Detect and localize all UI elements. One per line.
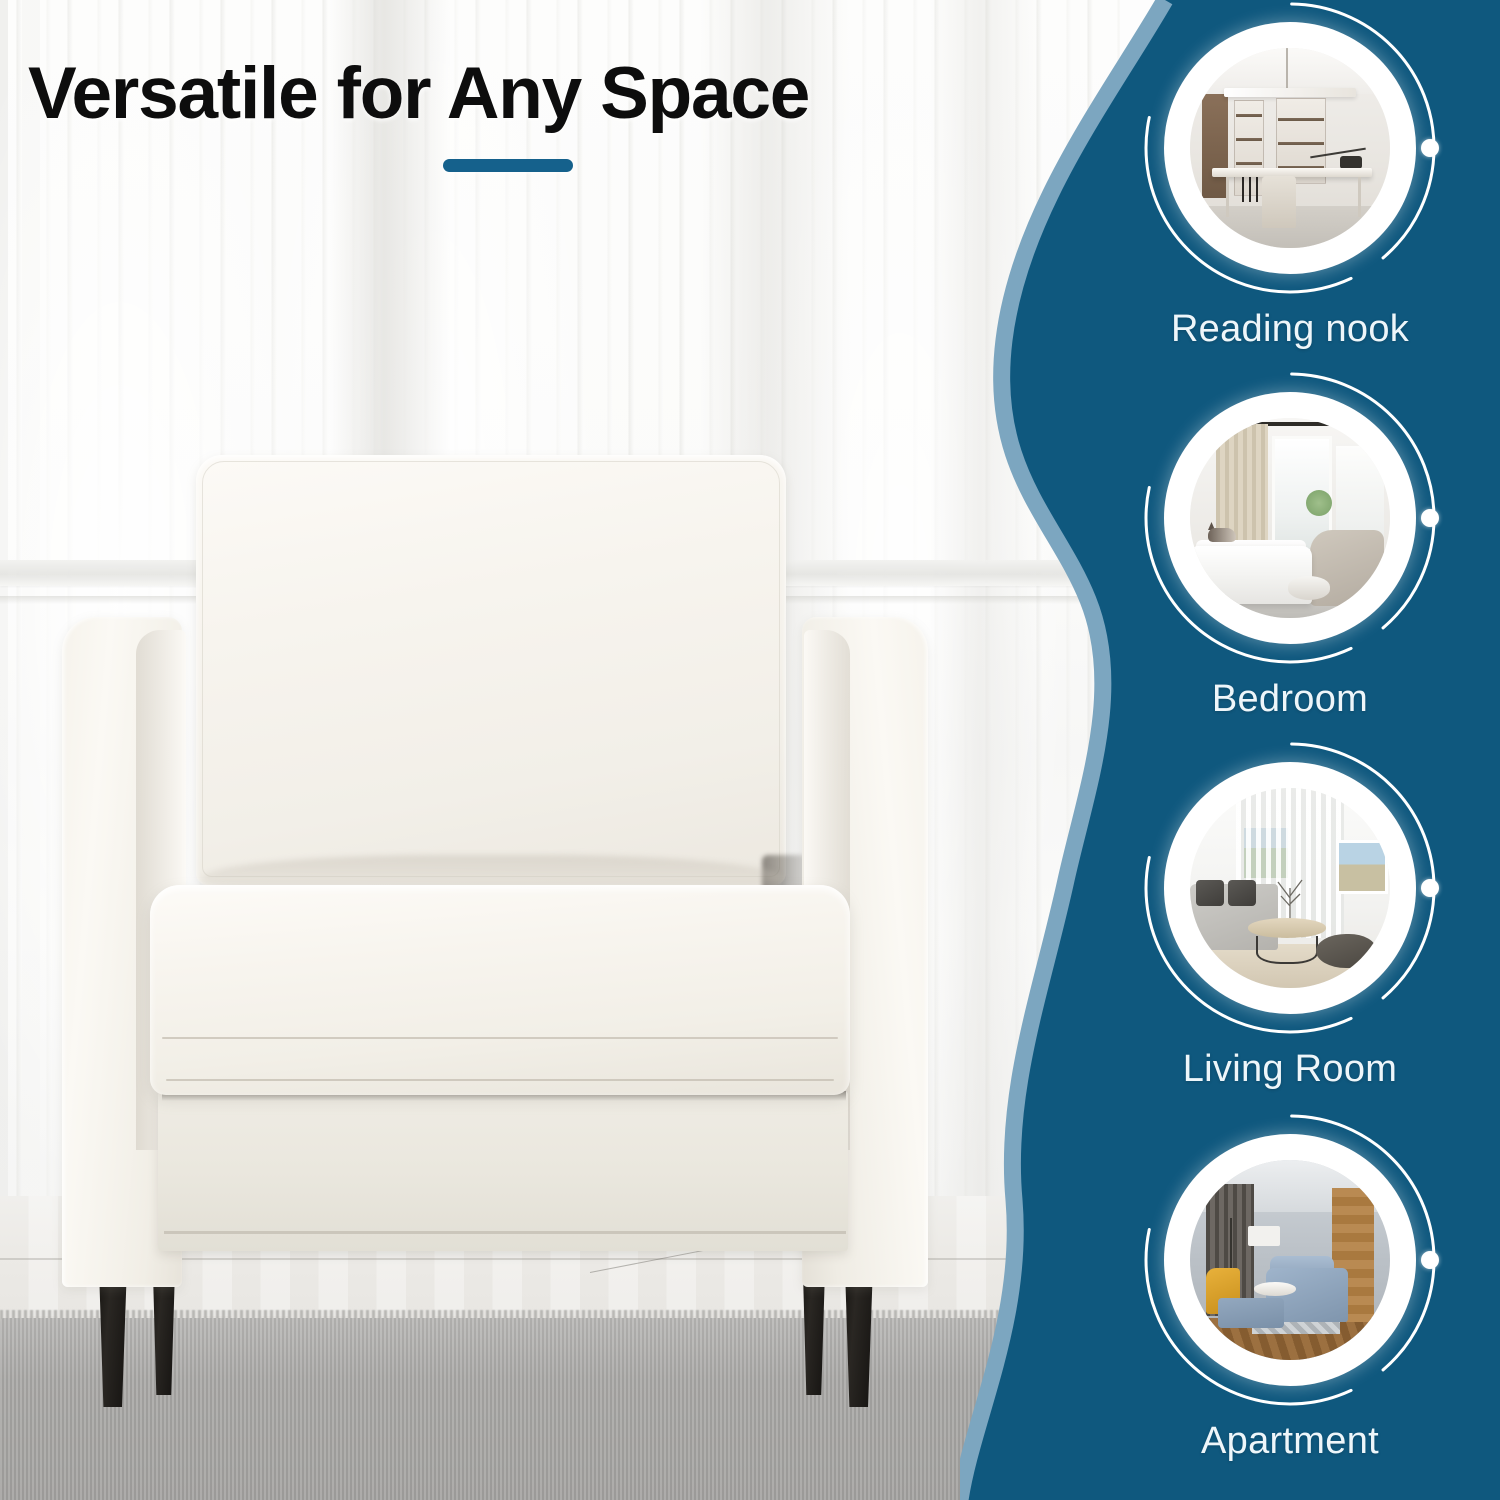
page-title: Versatile for Any Space	[28, 57, 809, 130]
use-case-card[interactable]: Bedroom	[1110, 368, 1470, 721]
title-underline-rule	[443, 159, 573, 172]
circle-holder	[1140, 1110, 1440, 1410]
use-case-photo	[1190, 48, 1390, 248]
reading-nook-photo	[1190, 48, 1390, 248]
marker-dot-icon	[1421, 1251, 1439, 1269]
use-case-label: Living Room	[1110, 1048, 1470, 1091]
armchair	[62, 455, 942, 1265]
photo-ring	[1164, 1134, 1416, 1386]
marker-dot-icon	[1421, 509, 1439, 527]
dried-branches-icon	[1272, 874, 1308, 920]
circle-holder	[1140, 368, 1440, 668]
use-case-card[interactable]: Living Room	[1110, 738, 1470, 1091]
chair-seat-piping	[162, 1037, 838, 1039]
use-case-photo	[1190, 418, 1390, 618]
photo-ring	[1164, 762, 1416, 1014]
use-case-label: Apartment	[1110, 1420, 1470, 1463]
use-case-label: Bedroom	[1110, 678, 1470, 721]
chair-seat-cushion	[150, 885, 850, 1095]
product-infographic: Versatile for Any Space	[0, 0, 1500, 1500]
apartment-photo	[1190, 1160, 1390, 1360]
use-case-card[interactable]: Apartment	[1110, 1110, 1470, 1463]
use-case-photo	[1190, 1160, 1390, 1360]
photo-ring	[1164, 22, 1416, 274]
use-case-card[interactable]: Reading nook	[1110, 0, 1470, 351]
marker-dot-icon	[1421, 139, 1439, 157]
use-case-label: Reading nook	[1110, 308, 1470, 351]
versatility-panel: Reading nook	[960, 0, 1500, 1500]
chair-base	[158, 1091, 848, 1251]
chair-base-seam	[164, 1231, 846, 1234]
marker-dot-icon	[1421, 879, 1439, 897]
circle-holder	[1140, 738, 1440, 1038]
photo-ring	[1164, 392, 1416, 644]
circle-holder	[1140, 0, 1440, 298]
use-case-photo	[1190, 788, 1390, 988]
chair-seat-piping	[166, 1079, 834, 1081]
chair-back-cushion	[196, 455, 786, 885]
bedroom-photo	[1190, 418, 1390, 618]
living-room-photo	[1190, 788, 1390, 988]
